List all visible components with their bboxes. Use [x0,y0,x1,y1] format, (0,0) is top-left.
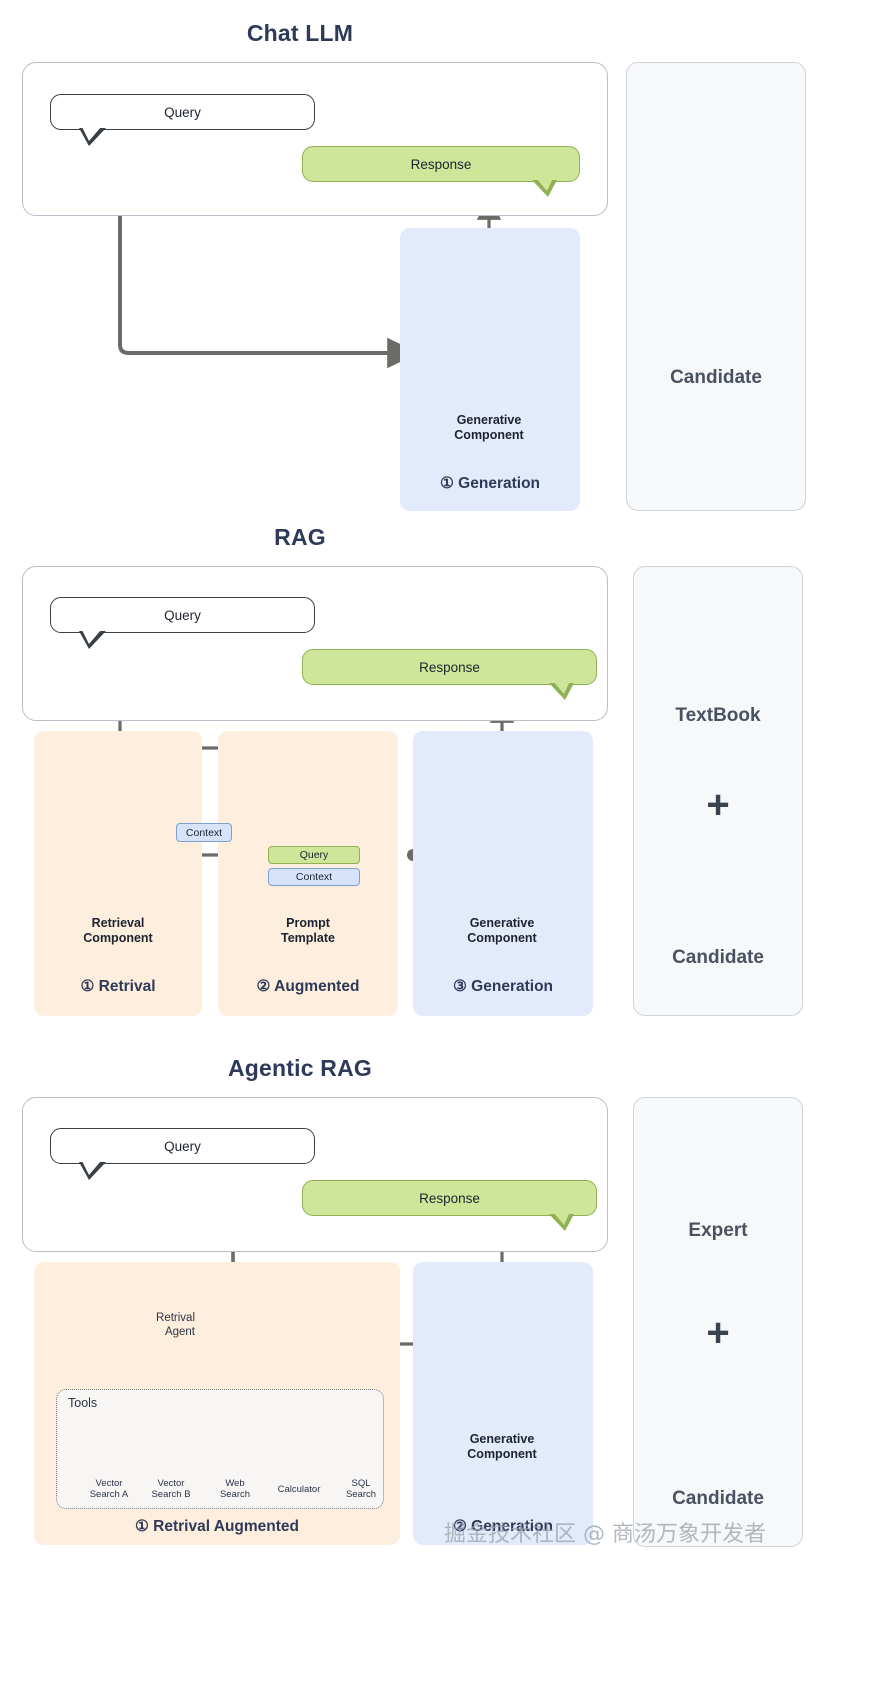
section-title-agentic-rag: Agentic RAG [0,1055,600,1082]
gen-comp-line1: Generative [470,1432,535,1446]
query-bubble-tail [79,1162,106,1180]
diagram-canvas: Chat LLM Query Response Generative Compo… [0,0,882,1683]
query-bubble-tail [79,128,106,146]
retrieval-component-label: Retrieval Component [28,916,208,946]
tool-line2: Search B [151,1489,190,1500]
tool-line2: Search [346,1489,376,1500]
tool-label-calculator: Calculator [267,1484,331,1495]
query-label: Query [164,105,201,120]
doc-query-chip: Query [268,846,360,864]
stage-band-retrieval [34,731,202,1016]
textbook-label: TextBook [633,705,803,727]
tool-line1: Calculator [278,1484,321,1495]
response-bubble-1[interactable]: Response [302,146,580,182]
tool-label-web-search: Web Search [203,1478,267,1500]
chat-window-1 [22,62,608,216]
tool-label-vector-search-b: Vector Search B [139,1478,203,1500]
gen-comp-line1: Generative [457,413,522,427]
query-label: Query [164,608,201,623]
retr-comp-line1: Retrieval [92,916,145,930]
plus-separator-agentic: + [633,1313,803,1353]
retr-comp-line2: Component [83,931,152,945]
query-label: Query [164,1139,201,1154]
candidate-label-2: Candidate [633,947,803,969]
response-bubble-3[interactable]: Response [302,1180,597,1216]
generative-component-label-1: Generative Component [399,413,579,443]
context-chip: Context [176,823,232,842]
tool-label-vector-search-a: Vector Search A [77,1478,141,1500]
gen-comp-line2: Component [467,931,536,945]
response-bubble-tail [532,180,557,197]
tool-line1: Web [225,1478,244,1489]
query-bubble-tail [79,631,106,649]
response-bubble-2[interactable]: Response [302,649,597,685]
actor-card-chat-llm [626,62,806,511]
retrival-agent-label: Retrival Agent [125,1311,195,1339]
prompt-line2: Template [281,931,335,945]
response-bubble-tail [549,683,574,700]
gen-comp-line1: Generative [470,916,535,930]
stage-label-retrival: ① Retrival [34,977,202,996]
candidate-label-3: Candidate [633,1488,803,1510]
query-bubble-1[interactable]: Query [50,94,315,130]
tool-line2: Search A [90,1489,129,1500]
query-bubble-2[interactable]: Query [50,597,315,633]
expert-label: Expert [633,1220,803,1242]
stage-label-generation-3: ③ Generation [413,977,593,996]
response-bubble-tail [549,1214,574,1231]
response-label: Response [419,660,480,675]
stage-band-generation-3 [413,731,593,1016]
prompt-template-label: Prompt Template [218,916,398,946]
section-title-rag: RAG [0,524,600,551]
doc-context-chip: Context [268,868,360,886]
agent-line1: Retrival [156,1312,195,1324]
response-label: Response [411,157,472,172]
section-title-chat-llm: Chat LLM [0,20,600,47]
gen-comp-line2: Component [467,1447,536,1461]
plus-separator-rag: + [633,785,803,825]
prompt-line1: Prompt [286,916,330,930]
tool-line1: Vector [96,1478,123,1489]
tools-title: Tools [68,1396,97,1410]
chat-window-2 [22,566,608,721]
response-label: Response [419,1191,480,1206]
watermark: 掘金技术社区 @ 商汤万象开发者 [444,1516,766,1548]
generative-component-label-2: Generative Component [412,916,592,946]
stage-band-generation-2 [413,1262,593,1545]
query-bubble-3[interactable]: Query [50,1128,315,1164]
stage-label-augmented: ② Augmented [218,977,398,996]
tool-label-sql-search: SQL Search [329,1478,393,1500]
stage-band-generation-1 [400,228,580,511]
tool-line2: Search [220,1489,250,1500]
tool-line1: Vector [158,1478,185,1489]
stage-label-retrival-augmented: ① Retrival Augmented [34,1517,400,1536]
stage-label-generation-1: ① Generation [400,474,580,493]
candidate-label-1: Candidate [626,367,806,389]
generative-component-label-3: Generative Component [412,1432,592,1462]
chat-window-3 [22,1097,608,1252]
tool-line1: SQL [351,1478,370,1489]
gen-comp-line2: Component [454,428,523,442]
agent-line2: Agent [165,1326,195,1338]
